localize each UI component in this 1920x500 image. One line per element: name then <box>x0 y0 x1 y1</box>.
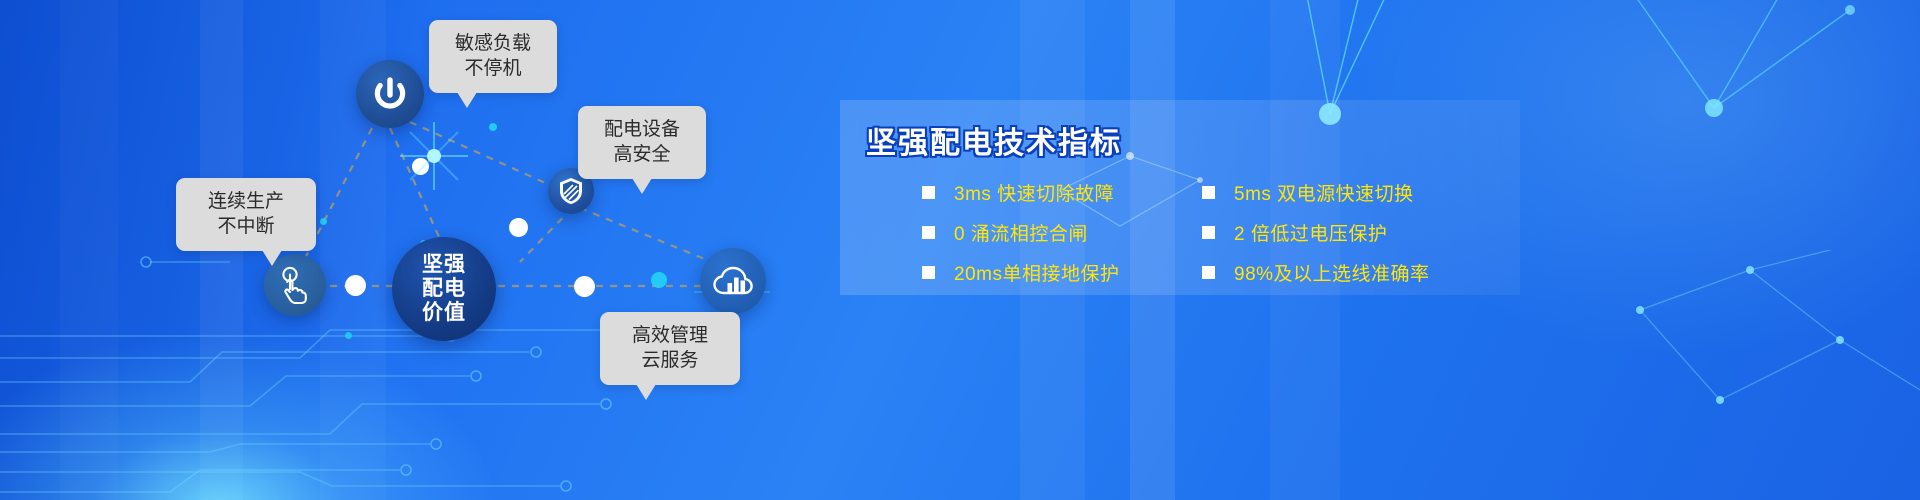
bullet-square-icon <box>1202 266 1215 279</box>
value-diagram: 坚强 配电 价值 <box>0 0 840 500</box>
hand-click-icon <box>277 266 313 304</box>
accent-dot <box>345 332 352 339</box>
spec-label: 3ms 快速切除故障 <box>954 179 1114 206</box>
spec-item: 98%及以上选线准确率 <box>1202 259 1522 286</box>
hub-label: 坚强 配电 价值 <box>422 253 466 325</box>
spec-item: 20ms单相接地保护 <box>922 259 1202 286</box>
network-graphic-far-right <box>1550 0 1920 180</box>
link-dot <box>345 275 366 296</box>
spec-label: 20ms单相接地保护 <box>954 259 1119 286</box>
node-power[interactable] <box>356 60 424 128</box>
spec-label: 2 倍低过电压保护 <box>1234 219 1387 246</box>
link-dot <box>412 158 429 175</box>
bullet-square-icon <box>922 186 935 199</box>
shield-icon <box>558 177 584 205</box>
bubble-cloud-management: 高效管理 云服务 <box>600 312 740 385</box>
hub-node-core-value[interactable]: 坚强 配电 价值 <box>392 237 496 341</box>
cloud-chart-icon <box>712 263 754 299</box>
spec-label: 98%及以上选线准确率 <box>1234 259 1430 286</box>
accent-dot <box>489 123 497 131</box>
spec-label: 0 涌流相控合闸 <box>954 219 1088 246</box>
bubble-equipment-safety: 配电设备 高安全 <box>578 106 706 179</box>
bullet-square-icon <box>1202 186 1215 199</box>
bullet-square-icon <box>922 266 935 279</box>
bubble-continuous-production: 连续生产 不中断 <box>176 178 316 251</box>
network-graphic-bottom-right <box>1600 250 1920 500</box>
spec-item: 0 涌流相控合闸 <box>922 219 1202 246</box>
link-dot-cyan <box>651 272 667 288</box>
panel-title: 坚强配电技术指标 <box>866 118 1122 162</box>
spec-label: 5ms 双电源快速切换 <box>1234 179 1414 206</box>
promo-banner: 坚强 配电 价值 <box>0 0 1920 500</box>
bubble-sensitive-load: 敏感负载 不停机 <box>429 20 557 93</box>
spec-list: 3ms 快速切除故障 5ms 双电源快速切换 0 涌流相控合闸 2 倍低过电压保… <box>922 172 1522 292</box>
link-dot <box>509 218 528 237</box>
link-dot <box>574 276 595 297</box>
accent-dot <box>320 218 327 225</box>
spec-item: 5ms 双电源快速切换 <box>1202 179 1522 206</box>
power-icon <box>370 74 410 114</box>
bullet-square-icon <box>922 226 935 239</box>
bullet-square-icon <box>1202 226 1215 239</box>
spec-item: 3ms 快速切除故障 <box>922 179 1202 206</box>
node-cloud-chart[interactable] <box>700 248 766 314</box>
spec-item: 2 倍低过电压保护 <box>1202 219 1522 246</box>
